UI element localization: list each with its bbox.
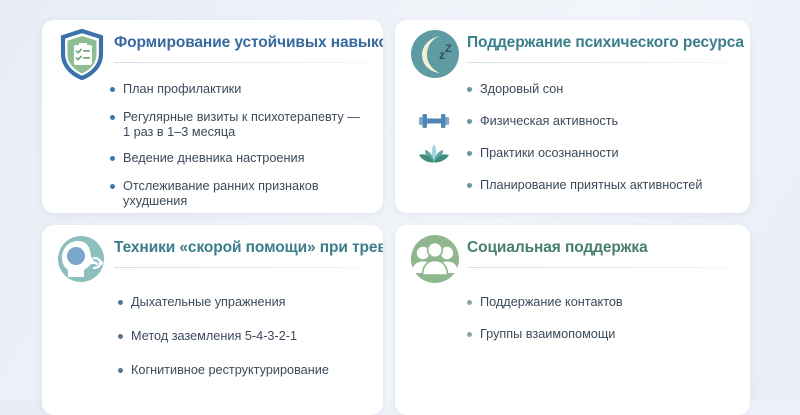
card-item-list: Здоровый сон Физическая активность [395,78,750,193]
list-item: Здоровый сон [467,82,736,97]
bullet-dot [467,151,472,156]
svg-text:Z: Z [445,43,452,55]
list-item-label: План профилактики [123,82,241,96]
card-title: Техники «скорой помощи» при тревоге [114,239,369,257]
card-social-support: Социальная поддержка Поддержание контакт… [395,225,750,415]
list-item: Когнитивное реструктурирование [118,363,369,378]
head-breathing-icon [56,233,108,285]
card-mental-resource: z Z Поддержание психического ресурса Здо… [395,20,750,213]
list-item: Физическая активность [467,114,736,129]
list-item-label: Поддержание контактов [480,295,623,309]
list-item-label: Практики осознанности [480,146,619,160]
title-divider [114,267,367,268]
list-item: План профилактики [110,82,369,97]
bullet-dot [467,87,472,92]
card-item-list: Дыхательные упражнения Метод заземления … [42,283,383,378]
bullet-dot [467,300,472,305]
infographic-canvas: Формирование устойчивых навыков План про… [0,0,800,400]
card-header: Социальная поддержка [395,225,750,283]
list-item-label: Дыхательные упражнения [131,295,286,309]
list-item: Дыхательные упражнения [118,295,369,310]
list-item: Поддержание контактов [467,295,736,310]
list-item: Ведение дневника настроения [110,151,369,166]
card-item-list: Поддержание контактов Группы взаимопомощ… [395,283,750,342]
bullet-dot [118,334,123,339]
bullet-dot [110,115,115,120]
bullet-dot [118,368,123,373]
list-item-label: Группы взаимопомощи [480,327,615,341]
list-item-label: Метод заземления 5-4-3-2-1 [131,329,297,343]
bullet-dot [467,332,472,337]
bullet-dot [467,183,472,188]
bullet-dot [118,300,123,305]
list-item-label: Здоровый сон [480,82,563,96]
list-item-label: Физическая активность [480,114,618,128]
card-title: Поддержание психического ресурса [467,34,736,52]
list-item: Планирование приятных активностей [467,178,736,193]
title-divider [467,267,734,268]
card-header: Формирование устойчивых навыков [42,20,383,78]
title-divider [114,62,367,63]
bullet-dot [110,156,115,161]
list-item: Метод заземления 5-4-3-2-1 [118,329,369,344]
list-item: Отслеживание ранних признаков ухудшения [110,179,369,209]
list-item-label-line2: 1 раз в 1–3 месяца [123,125,369,140]
bullet-dot [110,87,115,92]
list-item-label: Планирование приятных активностей [480,178,702,192]
list-item: Практики осознанности [467,146,736,161]
card-item-list: План профилактики Регулярные визиты к пс… [42,78,383,209]
list-item-label: Отслеживание ранних признаков ухудшения [123,179,319,208]
bullet-dot [110,184,115,189]
list-item-label: Когнитивное реструктурирование [131,363,329,377]
card-emergency-techniques: Техники «скорой помощи» при тревоге Дыха… [42,225,383,415]
list-item: Регулярные визиты к психотерапевту — 1 р… [110,110,369,140]
card-title: Социальная поддержка [467,239,736,257]
list-item-label: Ведение дневника настроения [123,151,304,165]
dumbbell-icon [417,109,451,133]
people-group-icon [409,233,461,285]
card-header: Техники «скорой помощи» при тревоге [42,225,383,283]
card-title: Формирование устойчивых навыков [114,34,369,52]
list-item: Группы взаимопомощи [467,327,736,342]
bullet-dot [467,119,472,124]
moon-sleep-icon: z Z [409,28,461,80]
title-divider [467,62,734,63]
lotus-icon [417,141,451,165]
shield-checklist-icon [56,28,108,80]
card-header: z Z Поддержание психического ресурса [395,20,750,78]
list-item-label: Регулярные визиты к психотерапевту — [123,110,360,124]
card-skills: Формирование устойчивых навыков План про… [42,20,383,213]
